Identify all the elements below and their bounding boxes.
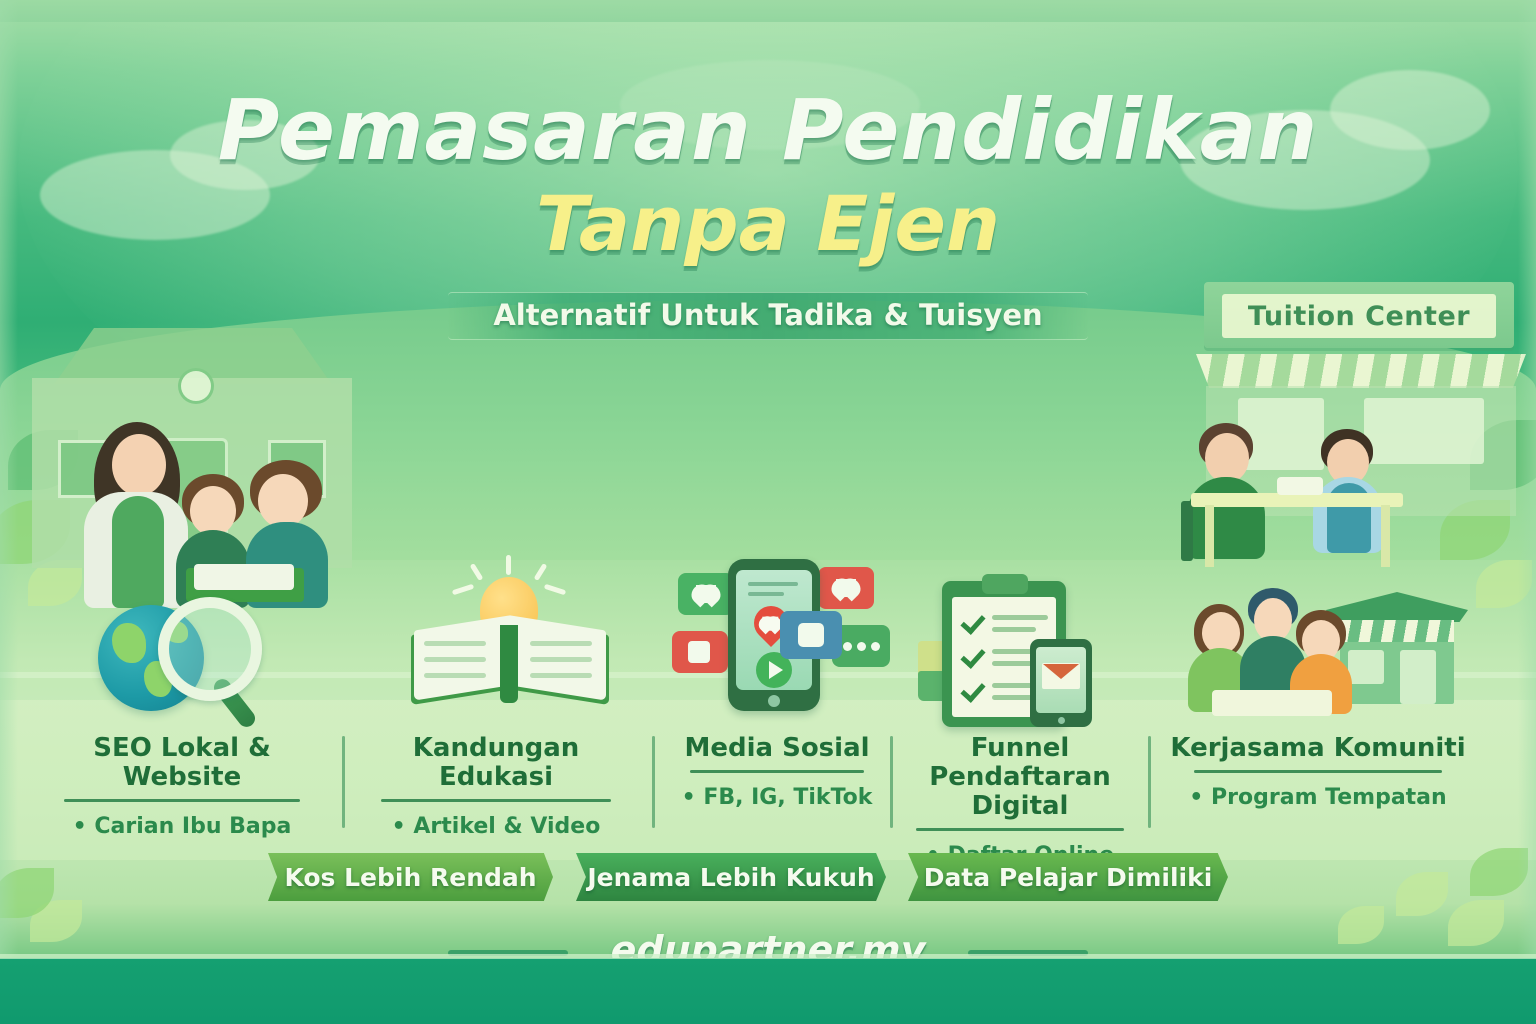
feature-column-social[interactable]: Media Sosial • FB, IG, TikTok <box>672 734 882 810</box>
consultation-table <box>1191 493 1403 507</box>
feature-columns: SEO Lokal & Website • Carian Ibu Bapa Ka… <box>0 728 1536 848</box>
feature-underline <box>64 799 300 802</box>
book-text-line <box>424 641 486 646</box>
book-text-line <box>530 673 592 678</box>
feature-column-seo[interactable]: SEO Lokal & Website • Carian Ibu Bapa <box>42 734 322 839</box>
feature-bullet-text: Carian Ibu Bapa <box>94 814 291 839</box>
mother-head <box>112 434 166 496</box>
comment-dot <box>857 642 866 651</box>
feature-title: Kandungan Edukasi <box>366 734 626 792</box>
checkmark-icon <box>960 643 985 669</box>
checklist-line <box>992 615 1048 620</box>
feature-underline <box>381 799 611 802</box>
reaction-bubble-thumbsup-blue <box>780 611 842 659</box>
feature-underline <box>916 828 1124 831</box>
benefit-ribbon-brand[interactable]: Jenama Lebih Kukuh <box>576 853 886 901</box>
school-clock <box>178 368 214 404</box>
feature-title: Media Sosial <box>672 734 882 763</box>
feature-bullet-text: Program Tempatan <box>1211 785 1447 810</box>
comment-dot <box>843 642 852 651</box>
clipboard-checklist-tablet-icon <box>920 567 1120 752</box>
feature-title: SEO Lokal & Website <box>42 734 322 792</box>
bulb-ray <box>544 584 566 596</box>
open-book-lightbulb-icon <box>408 565 608 750</box>
smartphone-home-button <box>768 695 780 707</box>
continent-shape <box>112 623 146 663</box>
feature-column-community[interactable]: Kerjasama Komuniti • Program Tempatan <box>1168 734 1468 810</box>
feature-title: Kerjasama Komuniti <box>1168 734 1468 763</box>
frame-bottom-edge <box>0 958 1536 1024</box>
checkmark-icon <box>960 609 985 635</box>
feature-bullet: • FB, IG, TikTok <box>672 785 882 810</box>
book-text-line <box>530 641 592 646</box>
frame-right-edge <box>1518 0 1536 1024</box>
feature-underline <box>1194 770 1442 773</box>
comment-dot <box>871 642 880 651</box>
checkmark-icon <box>960 677 985 703</box>
feature-title: Funnel Pendaftaran Digital <box>900 734 1140 821</box>
title-line-1: Pemasaran Pendidikan <box>0 88 1536 174</box>
reaction-bubble-thumbsup-red <box>672 631 728 673</box>
book-spine <box>500 625 518 703</box>
bulb-ray <box>506 555 511 575</box>
column-divider <box>652 736 655 828</box>
poster-headline: Pemasaran Pendidikan Tanpa Ejen <box>0 88 1536 267</box>
feature-underline <box>690 770 864 773</box>
column-divider <box>890 736 893 828</box>
benefit-ribbons-row: Kos Lebih Rendah Jenama Lebih Kukuh Data… <box>0 853 1536 909</box>
column-divider <box>1148 736 1151 828</box>
feature-bullet-text: Artikel & Video <box>413 814 600 839</box>
frame-left-edge <box>0 0 18 1024</box>
feature-column-funnel[interactable]: Funnel Pendaftaran Digital • Daftar Onli… <box>900 734 1140 868</box>
benefit-ribbon-label: Kos Lebih Rendah <box>284 863 536 892</box>
bulb-ray <box>452 584 474 596</box>
tablet-home-button <box>1058 717 1065 724</box>
checklist-line <box>992 627 1036 632</box>
bullet-dot: • <box>682 785 696 810</box>
infographic-poster: Tuition Center <box>0 0 1536 1024</box>
magnifier-lens <box>158 597 262 701</box>
bulb-ray <box>470 563 484 581</box>
bullet-dot: • <box>73 814 87 839</box>
book-text-line <box>424 657 486 662</box>
envelope-flap <box>1043 664 1079 679</box>
clipboard-clamp <box>982 574 1028 594</box>
thumbsup-glyph <box>688 641 710 663</box>
smartphone-social-icon <box>672 549 872 734</box>
benefit-ribbon-cost[interactable]: Kos Lebih Rendah <box>268 853 553 901</box>
bullet-dot: • <box>1189 785 1203 810</box>
shop-awning <box>1196 354 1526 388</box>
benefit-ribbon-label: Data Pelajar Dimiliki <box>924 863 1213 892</box>
benefit-ribbon-data[interactable]: Data Pelajar Dimiliki <box>908 853 1228 901</box>
screen-text-line <box>748 592 784 596</box>
tablet-body <box>1030 639 1092 727</box>
heart-glyph <box>762 617 778 631</box>
feature-bullet: • Carian Ibu Bapa <box>42 814 322 839</box>
bulb-ray <box>534 563 548 581</box>
book-text-line <box>424 673 486 678</box>
title-line-2: Tanpa Ejen <box>0 180 1536 267</box>
heart-glyph <box>836 579 856 597</box>
child1-head <box>190 486 236 536</box>
benefit-ribbon-label: Jenama Lebih Kukuh <box>587 863 874 892</box>
open-document <box>1277 477 1323 495</box>
bullet-dot: • <box>392 814 406 839</box>
frame-top-edge <box>0 0 1536 22</box>
feature-bullet: • Program Tempatan <box>1168 785 1468 810</box>
child2-head <box>258 474 308 528</box>
screen-text-line <box>748 582 798 586</box>
thumbsup-glyph <box>798 623 824 647</box>
community-group-shop-icon <box>1180 555 1480 740</box>
tutor-head <box>1205 433 1249 483</box>
book-text-line <box>530 657 592 662</box>
reaction-bubble-heart-red <box>818 567 874 609</box>
reaction-bubble-heart-green <box>678 573 734 615</box>
feature-bullet-text: FB, IG, TikTok <box>703 785 872 810</box>
feature-bullet: • Artikel & Video <box>366 814 626 839</box>
feature-column-content[interactable]: Kandungan Edukasi • Artikel & Video <box>366 734 626 839</box>
heart-glyph <box>696 585 716 603</box>
tagline-text: Alternatif Untuk Tadika & Tuisyen <box>0 298 1536 332</box>
column-divider <box>342 736 345 828</box>
feature-icons-row <box>0 545 1536 730</box>
